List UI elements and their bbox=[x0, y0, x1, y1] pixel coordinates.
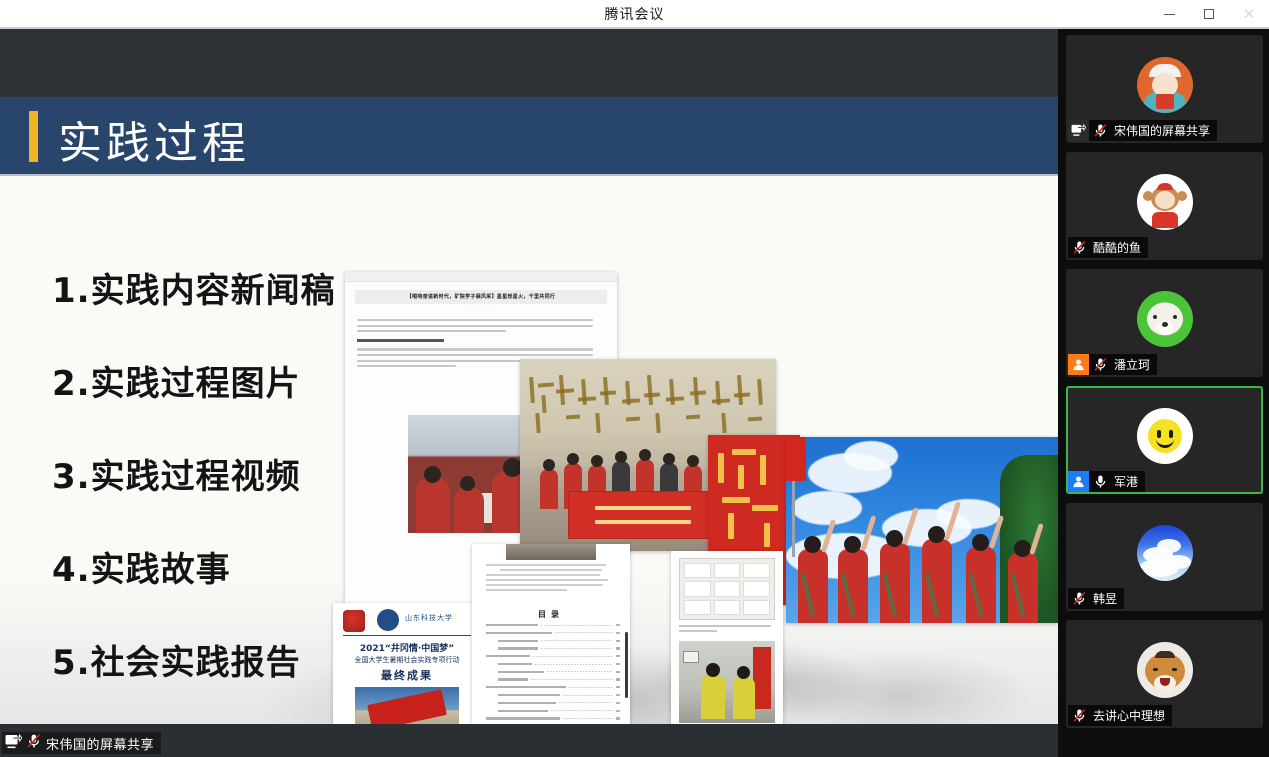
participant-namebar: 宋伟国的屏幕共享 bbox=[1068, 120, 1217, 141]
participant-name: 去讲心中理想 bbox=[1090, 707, 1172, 724]
university-name: 山东科技大学 bbox=[405, 613, 453, 623]
list-item: 3.实践过程视频 bbox=[52, 449, 382, 498]
program-logo-icon bbox=[343, 610, 365, 632]
mic-muted-icon bbox=[1068, 237, 1090, 258]
toc-entries bbox=[486, 624, 620, 724]
blue-sky-group-photo bbox=[786, 437, 1058, 623]
participant-name: 韩昱 bbox=[1090, 590, 1124, 607]
report-rule bbox=[343, 635, 471, 636]
news-headline: 【唱响奋进新时代，矿院学子展风采】星星烁星火，千里共同行 bbox=[355, 290, 607, 304]
participant-namebar: 韩昱 bbox=[1068, 588, 1124, 609]
app-title: 腾讯会议 bbox=[605, 4, 665, 24]
participant-namebar: 去讲心中理想 bbox=[1068, 705, 1172, 726]
university-seal-icon bbox=[377, 609, 399, 631]
blue-sky-avatar bbox=[1137, 525, 1193, 581]
participant-tile-active[interactable]: 军港 bbox=[1066, 386, 1263, 494]
participant-name: 宋伟国的屏幕共享 bbox=[1111, 122, 1217, 139]
participant-tile[interactable]: 酷酷的鱼 bbox=[1066, 152, 1263, 260]
screen-share-owner-label: 宋伟国的屏幕共享 bbox=[46, 734, 154, 753]
toc-heading: 目录 bbox=[472, 609, 630, 620]
tencent-meeting-window: 腾讯会议 ✕ 实践过程 1.实践内容新闻稿 2.实践过程图片 3.实践过程视频 … bbox=[0, 0, 1269, 757]
window-titlebar: 腾讯会议 bbox=[0, 0, 1269, 28]
screen-share-status-bar: 宋伟国的屏幕共享 bbox=[2, 732, 161, 754]
participant-namebar: 军港 bbox=[1068, 471, 1145, 492]
participant-namebar: 酷酷的鱼 bbox=[1068, 237, 1148, 258]
close-button[interactable]: ✕ bbox=[1229, 0, 1269, 28]
toc-intro-text bbox=[486, 564, 616, 594]
participant-tile[interactable]: 潘立珂 bbox=[1066, 269, 1263, 377]
presentation-slide: 实践过程 1.实践内容新闻稿 2.实践过程图片 3.实践过程视频 4.实践故事 … bbox=[0, 97, 1058, 724]
table-of-contents-document: 目录 bbox=[472, 544, 630, 724]
mic-muted-icon bbox=[26, 733, 42, 753]
browser-strip bbox=[345, 272, 617, 282]
framed-chart-photo bbox=[679, 558, 775, 620]
mic-muted-icon bbox=[1089, 120, 1111, 141]
museum-visit-photo bbox=[679, 641, 775, 723]
document-scrollbar[interactable] bbox=[625, 632, 628, 698]
team-banner bbox=[568, 491, 716, 539]
mic-muted-icon bbox=[1089, 354, 1111, 375]
red-memory-scroll bbox=[753, 647, 771, 709]
report-title-sub: 全国大学生暑期社会实践专项行动 bbox=[333, 655, 481, 665]
shiba-inu-avatar bbox=[1137, 642, 1193, 698]
participant-namebar: 潘立珂 bbox=[1068, 354, 1157, 375]
screen-share-icon bbox=[5, 734, 22, 753]
user-icon bbox=[1068, 471, 1089, 492]
slide-accent-bar bbox=[29, 111, 38, 162]
report-cover: 山东科技大学 2021“井冈情·中国梦” 全国大学生暑期社会实践专项行动 最终成… bbox=[333, 603, 481, 724]
news-body-text bbox=[357, 319, 605, 332]
maximize-button[interactable] bbox=[1189, 0, 1229, 28]
shared-screen-stage[interactable]: 实践过程 1.实践内容新闻稿 2.实践过程图片 3.实践过程视频 4.实践故事 … bbox=[0, 29, 1058, 757]
monkey-avatar bbox=[1137, 174, 1193, 230]
exhibition-visit-photo bbox=[671, 551, 783, 724]
participant-tile[interactable]: 宋伟国的屏幕共享 bbox=[1066, 35, 1263, 143]
slide-title: 实践过程 bbox=[58, 107, 250, 171]
window-controls: ✕ bbox=[1149, 0, 1269, 28]
red-flag bbox=[786, 437, 806, 481]
participant-name: 酷酷的鱼 bbox=[1090, 239, 1148, 256]
participant-tile[interactable]: 韩昱 bbox=[1066, 503, 1263, 611]
report-title-result: 最终成果 bbox=[333, 667, 481, 683]
minimize-button[interactable] bbox=[1149, 0, 1189, 28]
photo-caption bbox=[679, 625, 775, 635]
report-title-main: 2021“井冈情·中国梦” bbox=[333, 641, 481, 654]
screen-share-icon bbox=[1068, 120, 1089, 141]
report-cover-photo bbox=[355, 687, 459, 724]
participant-name: 潘立珂 bbox=[1111, 356, 1157, 373]
list-item: 1.实践内容新闻稿 bbox=[52, 263, 382, 312]
list-item: 2.实践过程图片 bbox=[52, 356, 382, 405]
mic-muted-icon bbox=[1068, 705, 1090, 726]
slide-header-divider bbox=[0, 174, 1058, 176]
mic-unmuted-icon bbox=[1089, 471, 1111, 492]
calligraphy-glyphs bbox=[526, 373, 770, 437]
participant-name: 军港 bbox=[1111, 473, 1145, 490]
toc-top-image bbox=[506, 544, 596, 560]
screen-letterbox-top bbox=[0, 29, 1058, 97]
host-icon bbox=[1068, 354, 1089, 375]
participant-sidebar[interactable]: 宋伟国的屏幕共享 酷酷的鱼 bbox=[1058, 29, 1269, 757]
smiley-face-avatar bbox=[1137, 408, 1193, 464]
list-item: 4.实践故事 bbox=[52, 542, 382, 591]
slide-header: 实践过程 bbox=[0, 97, 1058, 176]
news-subheading bbox=[357, 339, 444, 342]
dog-green-hat-avatar bbox=[1137, 291, 1193, 347]
news-meta: · · · · · bbox=[345, 309, 617, 313]
new-year-child-avatar bbox=[1137, 57, 1193, 113]
mic-muted-icon bbox=[1068, 588, 1090, 609]
participant-tile[interactable]: 去讲心中理想 bbox=[1066, 620, 1263, 728]
